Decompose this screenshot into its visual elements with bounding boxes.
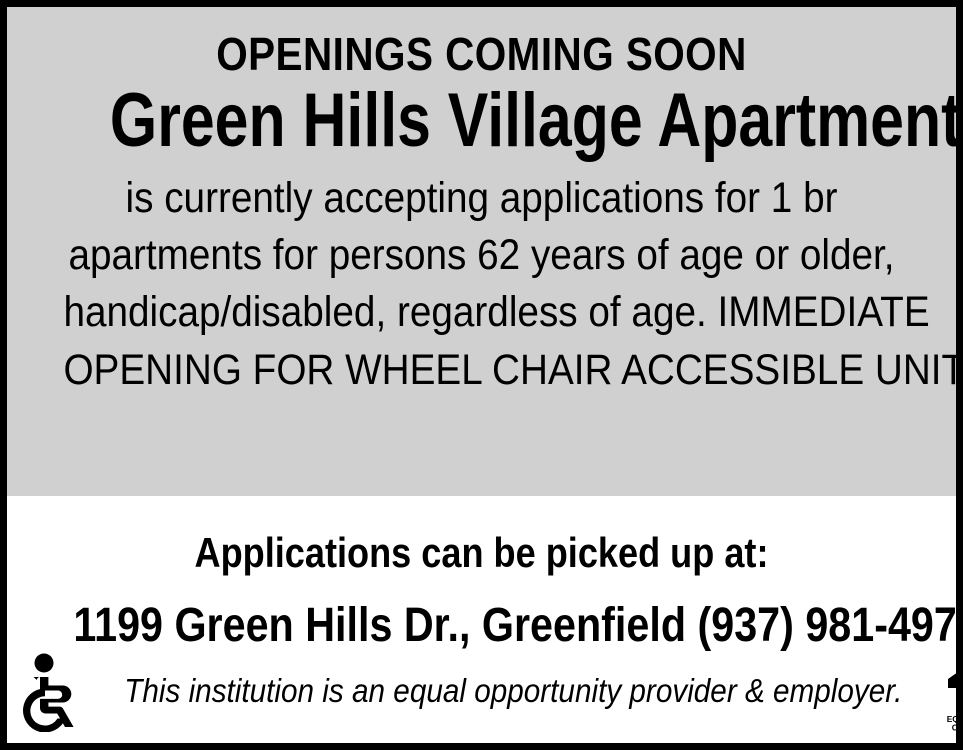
white-contact-panel: Applications can be picked up at: 1199 G…: [7, 496, 956, 743]
body-copy-line: is currently accepting applications for …: [63, 170, 899, 227]
equal-opportunity-tagline: This institution is an equal opportunity…: [124, 673, 902, 709]
eho-caption-line2: OPPORTUNITY: [951, 723, 963, 733]
page-title: Green Hills Village Apartments: [110, 81, 853, 160]
equal-housing-opportunity-logo: EQUAL HOUSING OPPORTUNITY: [946, 649, 963, 733]
footer-row: This institution is an equal opportunity…: [7, 645, 956, 737]
address-and-phone: 1199 Green Hills Dr., Greenfield (937) 9…: [73, 574, 889, 650]
eyebrow-heading: OPENINGS COMING SOON: [73, 31, 891, 77]
body-copy-line: apartments for persons 62 years of age o…: [63, 227, 899, 284]
body-copy-line: handicap/disabled, regardless of age. IM…: [63, 284, 899, 341]
body-copy-line: OPENING FOR WHEEL CHAIR ACCESSIBLE UNITS…: [63, 342, 899, 399]
eligibility-body-copy: is currently accepting applications for …: [63, 170, 899, 399]
apartment-advertisement-flyer: OPENINGS COMING SOON Green Hills Village…: [0, 0, 963, 750]
pickup-instruction-label: Applications can be picked up at:: [73, 496, 889, 574]
gray-information-panel: OPENINGS COMING SOON Green Hills Village…: [7, 7, 956, 496]
wheelchair-accessibility-icon: [15, 650, 81, 732]
